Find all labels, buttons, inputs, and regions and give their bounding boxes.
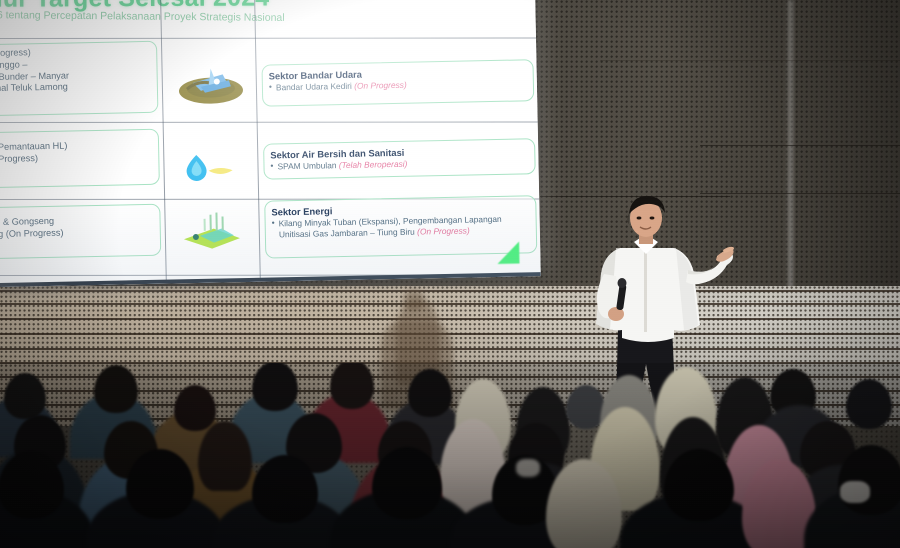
table-row: Sektor Air Bersih dan Sanitasi SPAM Umbu… bbox=[263, 138, 536, 179]
bullet-item: Kilang Minyak Tuban (Ekspansi), Pengemba… bbox=[272, 213, 532, 240]
left-cell-line: …an (On Progress) bbox=[0, 151, 154, 167]
presentation-slide: …di Jawa Timur Target Selesai 2024 …han … bbox=[0, 0, 541, 287]
list-item bbox=[4, 373, 46, 419]
table-row: …abaya (Pemantauan HL) …an (On Progress) bbox=[0, 129, 160, 189]
left-cell-line: …u Terminal Teluk Lamong bbox=[0, 80, 153, 96]
wall-panel-line bbox=[700, 145, 900, 146]
list-item bbox=[252, 363, 298, 411]
energy-icon bbox=[168, 207, 257, 257]
wall-panel-line bbox=[700, 193, 900, 194]
table-gridline-h bbox=[0, 121, 541, 122]
projection-screen: …di Jawa Timur Target Selesai 2024 …han … bbox=[0, 0, 541, 287]
left-cell-line: … Bagong (On Progress) bbox=[0, 226, 156, 242]
list-item bbox=[94, 365, 138, 413]
list-item bbox=[846, 379, 892, 429]
face-mask bbox=[516, 459, 540, 477]
slide-accent-triangle bbox=[497, 242, 519, 264]
seminar-photo-scene: …di Jawa Timur Target Selesai 2024 …han … bbox=[0, 0, 900, 548]
list-item bbox=[408, 369, 452, 417]
list-item bbox=[838, 445, 900, 515]
airport-icon bbox=[169, 61, 252, 111]
list-item bbox=[330, 363, 374, 409]
table-row: …. Bendo & Gongseng … Bagong (On Progres… bbox=[0, 204, 161, 260]
wall-panel-line bbox=[600, 60, 900, 61]
wall-seam-right bbox=[786, 0, 795, 292]
list-item bbox=[174, 385, 216, 431]
table-row: …n (On Progress) …. Probolinggo – …gundi… bbox=[0, 41, 158, 117]
audience bbox=[0, 363, 900, 548]
table-row: Sektor Bandar Udara Bandar Udara Kediri … bbox=[261, 59, 534, 106]
face-mask bbox=[840, 481, 870, 503]
water-drop-icon bbox=[173, 147, 252, 189]
table-gridline-h bbox=[0, 38, 541, 39]
